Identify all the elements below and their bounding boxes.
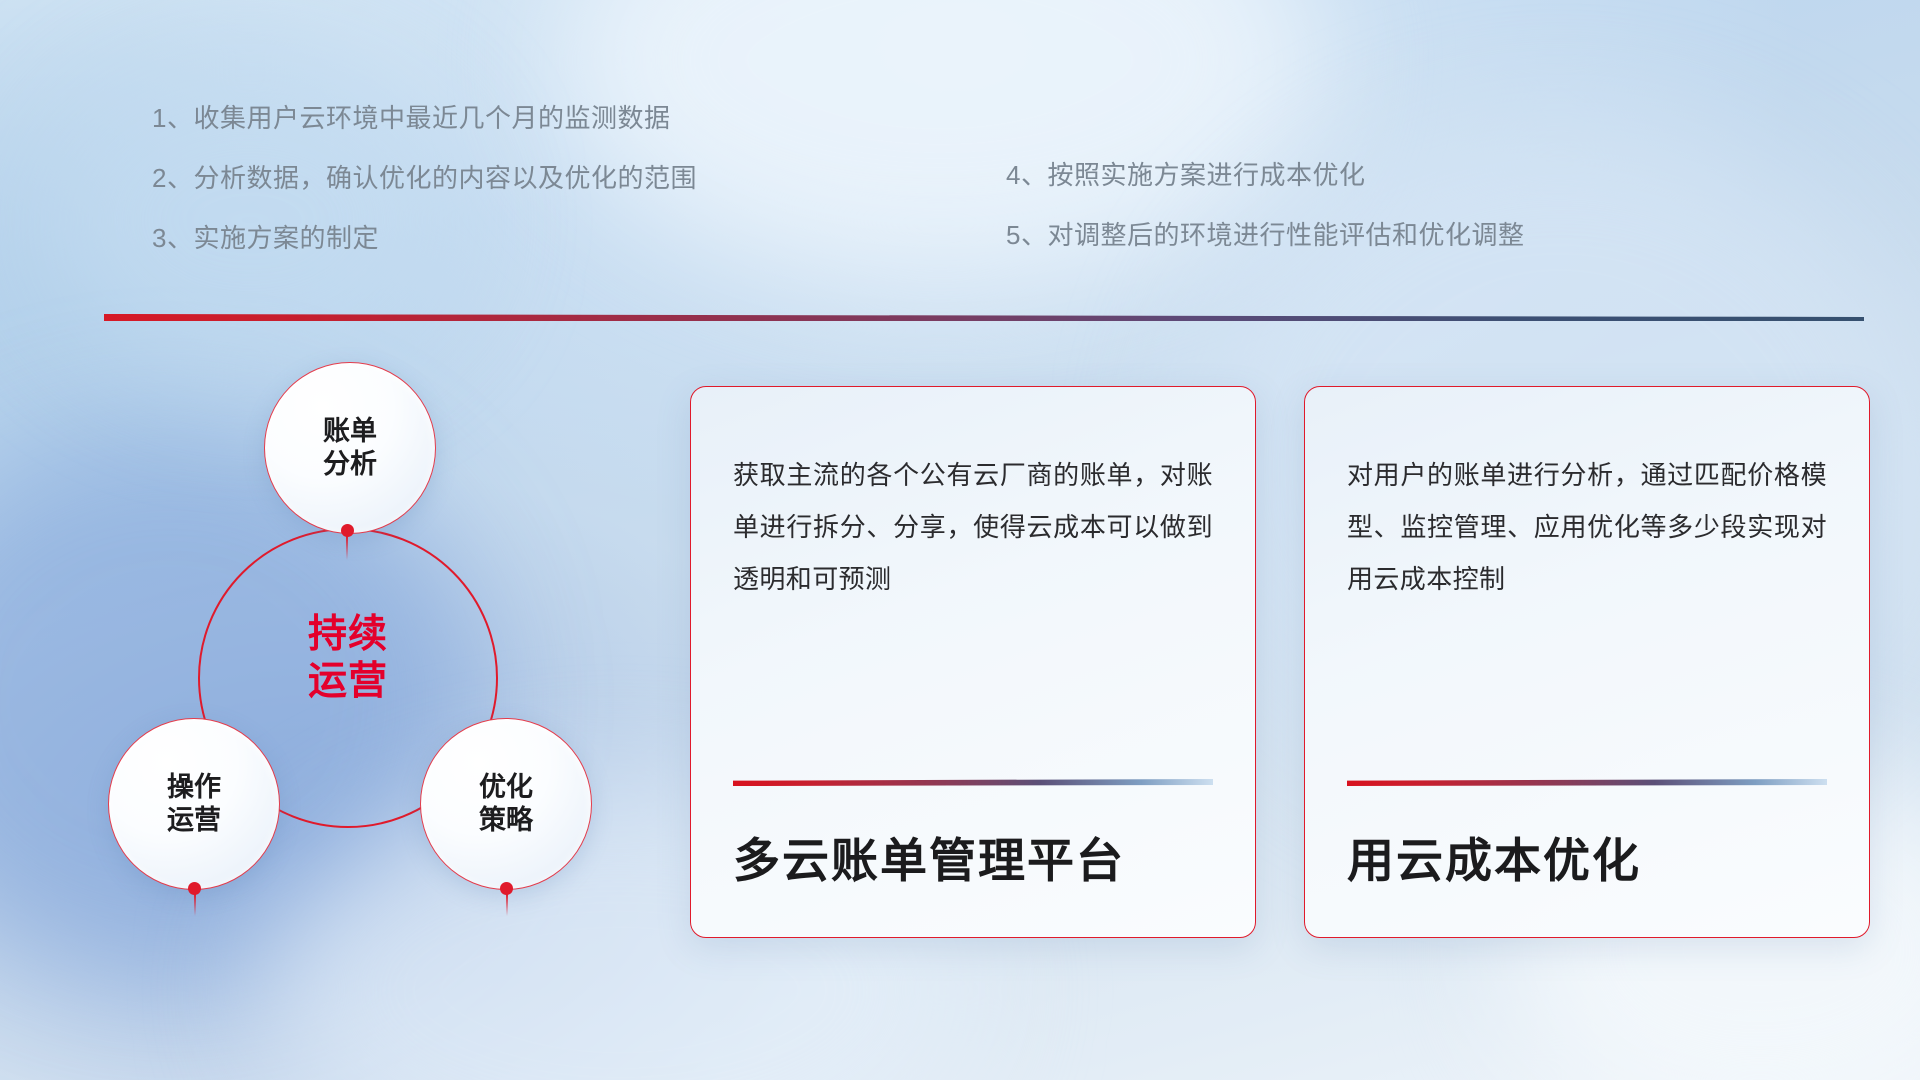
step-item-4: 4、按照实施方案进行成本优化 — [1006, 155, 1524, 192]
step-item-3: 3、实施方案的制定 — [152, 218, 697, 255]
diagram-connector-tick — [346, 536, 348, 560]
card-body-text: 对用户的账单进行分析，通过匹配价格模型、监控管理、应用优化等多少段实现对用云成本… — [1347, 449, 1827, 605]
diagram-node-dot — [188, 882, 201, 895]
diagram-bubble-operations[interactable]: 操作 运营 — [108, 718, 280, 890]
bubble-label-line1: 账单 — [323, 415, 377, 448]
bubble-label-line2: 策略 — [479, 804, 533, 837]
diagram-center-label: 持续 运营 — [240, 612, 456, 706]
bubble-label-line2: 运营 — [167, 804, 221, 837]
diagram-node-dot — [341, 524, 354, 537]
center-label-line2: 运营 — [240, 659, 456, 706]
feature-card-cost-optimization[interactable]: 对用户的账单进行分析，通过匹配价格模型、监控管理、应用优化等多少段实现对用云成本… — [1304, 386, 1870, 938]
slide-canvas: 1、收集用户云环境中最近几个月的监测数据 2、分析数据，确认优化的内容以及优化的… — [0, 0, 1920, 1080]
steps-list-right: 4、按照实施方案进行成本优化 5、对调整后的环境进行性能评估和优化调整 — [1006, 155, 1524, 275]
section-divider — [104, 314, 1864, 321]
cycle-diagram: 账单 分析 操作 运营 优化 策略 持续 运营 — [90, 350, 650, 950]
bubble-label-line1: 优化 — [479, 771, 533, 804]
bubble-label-line2: 分析 — [323, 448, 377, 481]
card-body-text: 获取主流的各个公有云厂商的账单，对账单进行拆分、分享，使得云成本可以做到透明和可… — [733, 449, 1213, 605]
diagram-connector-tick — [506, 894, 508, 916]
card-title: 多云账单管理平台 — [733, 822, 1213, 891]
diagram-connector-tick — [194, 894, 196, 916]
feature-card-multicloud-billing[interactable]: 获取主流的各个公有云厂商的账单，对账单进行拆分、分享，使得云成本可以做到透明和可… — [690, 386, 1256, 938]
diagram-bubble-bill-analysis[interactable]: 账单 分析 — [264, 362, 436, 534]
diagram-node-dot — [500, 882, 513, 895]
step-item-5: 5、对调整后的环境进行性能评估和优化调整 — [1006, 215, 1524, 252]
step-item-2: 2、分析数据，确认优化的内容以及优化的范围 — [152, 158, 697, 195]
card-accent-rule — [1347, 779, 1827, 786]
step-item-1: 1、收集用户云环境中最近几个月的监测数据 — [152, 98, 697, 135]
bubble-label-line1: 操作 — [167, 771, 221, 804]
card-title: 用云成本优化 — [1347, 822, 1827, 891]
steps-list-left: 1、收集用户云环境中最近几个月的监测数据 2、分析数据，确认优化的内容以及优化的… — [152, 98, 697, 278]
card-accent-rule — [733, 779, 1213, 786]
center-label-line1: 持续 — [240, 612, 456, 659]
diagram-bubble-optimization-strategy[interactable]: 优化 策略 — [420, 718, 592, 890]
